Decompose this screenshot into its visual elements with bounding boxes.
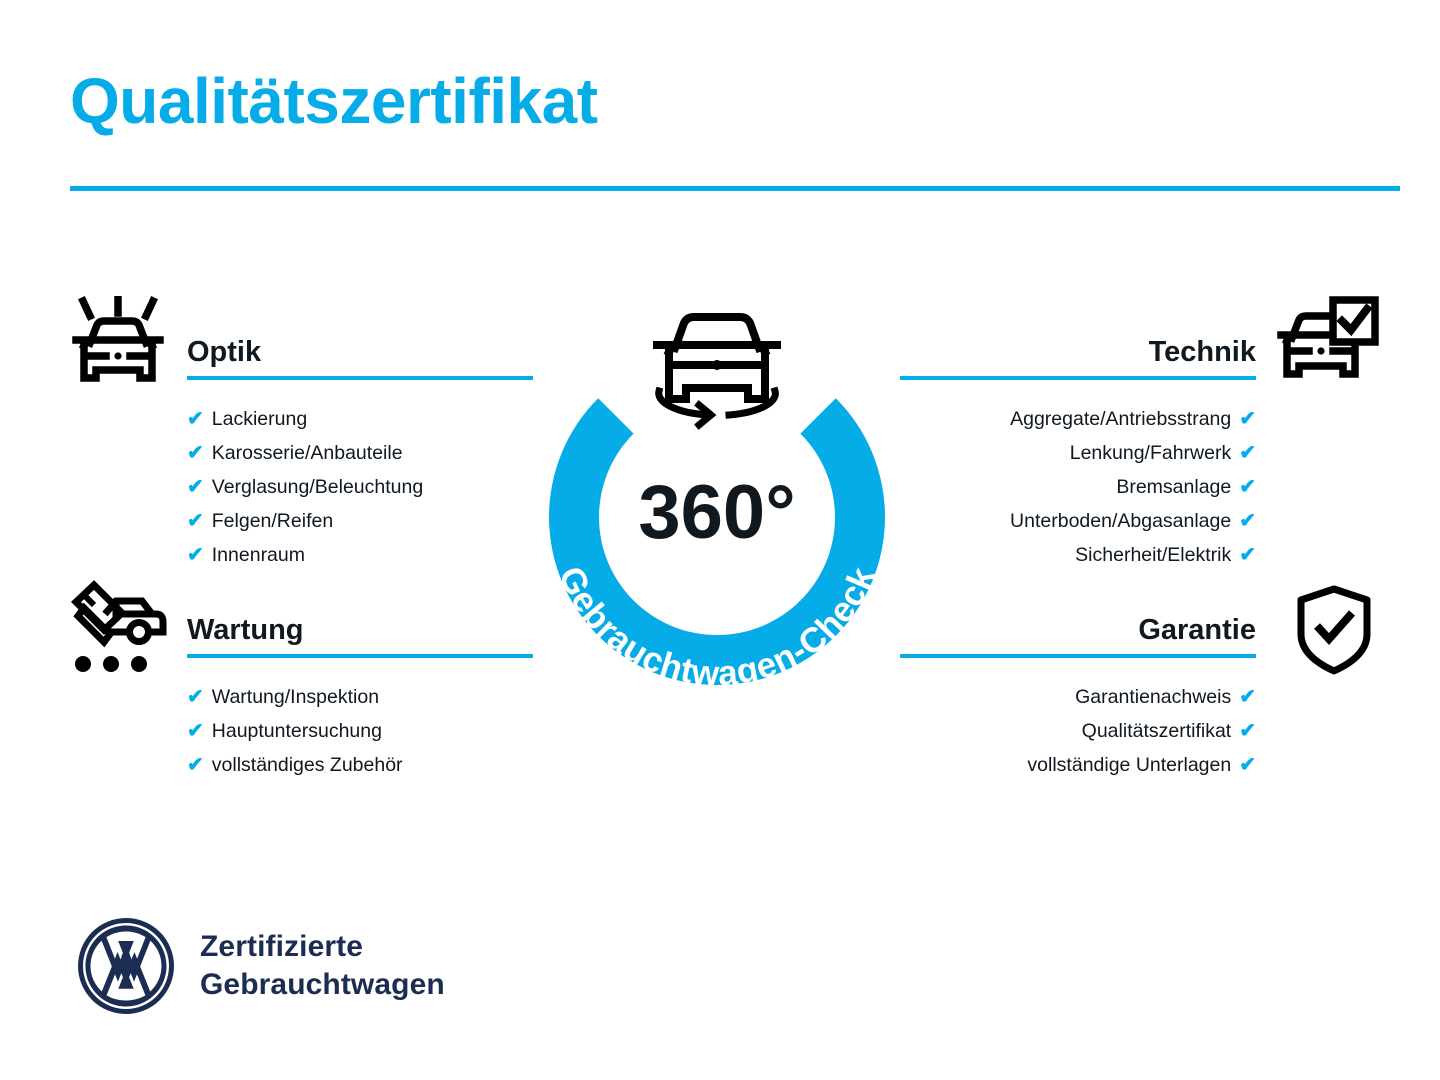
list-item: Garantienachweis ✔ [900,680,1256,714]
check-icon: ✔ [1239,680,1256,714]
list-item: ✔ Innenraum [187,538,533,572]
car-lift-service-icon [64,580,168,678]
list-item-label: Innenraum [212,538,305,572]
check-icon: ✔ [1239,714,1256,748]
list-item-label: Lackierung [212,402,307,436]
section-wartung: Wartung ✔ Wartung/Inspektion ✔ Hauptunte… [187,610,533,798]
list-item-label: Bremsanlage [1116,470,1231,504]
list-item-label: vollständiges Zubehör [212,748,403,782]
list-item-label: Garantienachweis [1075,680,1231,714]
list-item: ✔ Felgen/Reifen [187,504,533,538]
list-item-label: Verglasung/Beleuchtung [212,470,423,504]
list-item: Bremsanlage ✔ [900,470,1256,504]
car-rotate-360-icon [657,317,777,425]
list-item: vollständige Unterlagen ✔ [900,748,1256,782]
section-garantie: Garantie Garantienachweis ✔ Qualitätszer… [900,610,1256,798]
check-icon: ✔ [187,504,204,538]
section-optik-head: Optik [187,332,533,384]
list-item-label: Unterboden/Abgasanlage [1010,504,1231,538]
vw-roundel-icon [76,916,176,1016]
list-item-label: Wartung/Inspektion [212,680,379,714]
list-item-label: Aggregate/Antriebsstrang [1010,402,1231,436]
car-shine-icon [66,296,170,392]
list-item-label: Karosserie/Anbauteile [212,436,403,470]
list-item: ✔ Hauptuntersuchung [187,714,533,748]
list-item-label: Sicherheit/Elektrik [1075,538,1231,572]
section-optik-list: ✔ Lackierung ✔ Karosserie/Anbauteile ✔ V… [187,402,533,572]
check-icon: ✔ [187,714,204,748]
vw-certified-logo-lockup: Zertifizierte Gebrauchtwagen [76,916,445,1016]
section-garantie-list: Garantienachweis ✔ Qualitätszertifikat ✔… [900,680,1256,782]
section-technik-title: Technik [900,332,1256,372]
list-item: ✔ vollständiges Zubehör [187,748,533,782]
check-icon: ✔ [1239,470,1256,504]
section-wartung-list: ✔ Wartung/Inspektion ✔ Hauptuntersuchung… [187,680,533,782]
check-icon: ✔ [187,748,204,782]
list-item: ✔ Lackierung [187,402,533,436]
header-divider [70,186,1400,191]
section-technik: Technik Aggregate/Antriebsstrang ✔ Lenku… [900,332,1256,588]
list-item: ✔ Wartung/Inspektion [187,680,533,714]
list-item-label: Lenkung/Fahrwerk [1070,436,1232,470]
check-icon: ✔ [1239,402,1256,436]
list-item-label: Hauptuntersuchung [212,714,382,748]
check-icon: ✔ [1239,538,1256,572]
section-garantie-divider [900,654,1256,658]
footer-line-2: Gebrauchtwagen [200,966,445,1004]
check-icon: ✔ [1239,504,1256,538]
section-optik: Optik ✔ Lackierung ✔ Karosserie/Anbautei… [187,332,533,588]
check-icon: ✔ [1239,436,1256,470]
car-checkbox-icon [1276,294,1380,390]
list-item: Lenkung/Fahrwerk ✔ [900,436,1256,470]
list-item: Aggregate/Antriebsstrang ✔ [900,402,1256,436]
list-item: Unterboden/Abgasanlage ✔ [900,504,1256,538]
shield-check-icon [1294,584,1374,676]
section-wartung-title: Wartung [187,610,533,650]
check-icon: ✔ [187,680,204,714]
check-icon: ✔ [187,470,204,504]
check-icon: ✔ [187,436,204,470]
list-item: Qualitätszertifikat ✔ [900,714,1256,748]
section-wartung-divider [187,654,533,658]
section-garantie-title: Garantie [900,610,1256,650]
page-title: Qualitätszertifikat [70,68,598,135]
check-icon: ✔ [187,402,204,436]
section-technik-head: Technik [900,332,1256,384]
section-wartung-head: Wartung [187,610,533,662]
quality-certificate-page: Qualitätszertifikat Optik [0,0,1440,1080]
list-item-label: Qualitätszertifikat [1082,714,1232,748]
section-garantie-head: Garantie [900,610,1256,662]
section-technik-list: Aggregate/Antriebsstrang ✔ Lenkung/Fahrw… [900,402,1256,572]
list-item: Sicherheit/Elektrik ✔ [900,538,1256,572]
list-item: ✔ Verglasung/Beleuchtung [187,470,533,504]
footer-line-1: Zertifizierte [200,928,445,966]
section-technik-divider [900,376,1256,380]
check-icon: ✔ [1239,748,1256,782]
badge-center-label: 360° [638,470,795,555]
badge-360-gebrauchtwagen-check: Gebrauchtwagen-Check 360° [517,283,917,703]
list-item: ✔ Karosserie/Anbauteile [187,436,533,470]
footer-text: Zertifizierte Gebrauchtwagen [200,928,445,1005]
list-item-label: vollständige Unterlagen [1027,748,1231,782]
check-icon: ✔ [187,538,204,572]
section-optik-title: Optik [187,332,533,372]
list-item-label: Felgen/Reifen [212,504,333,538]
section-optik-divider [187,376,533,380]
